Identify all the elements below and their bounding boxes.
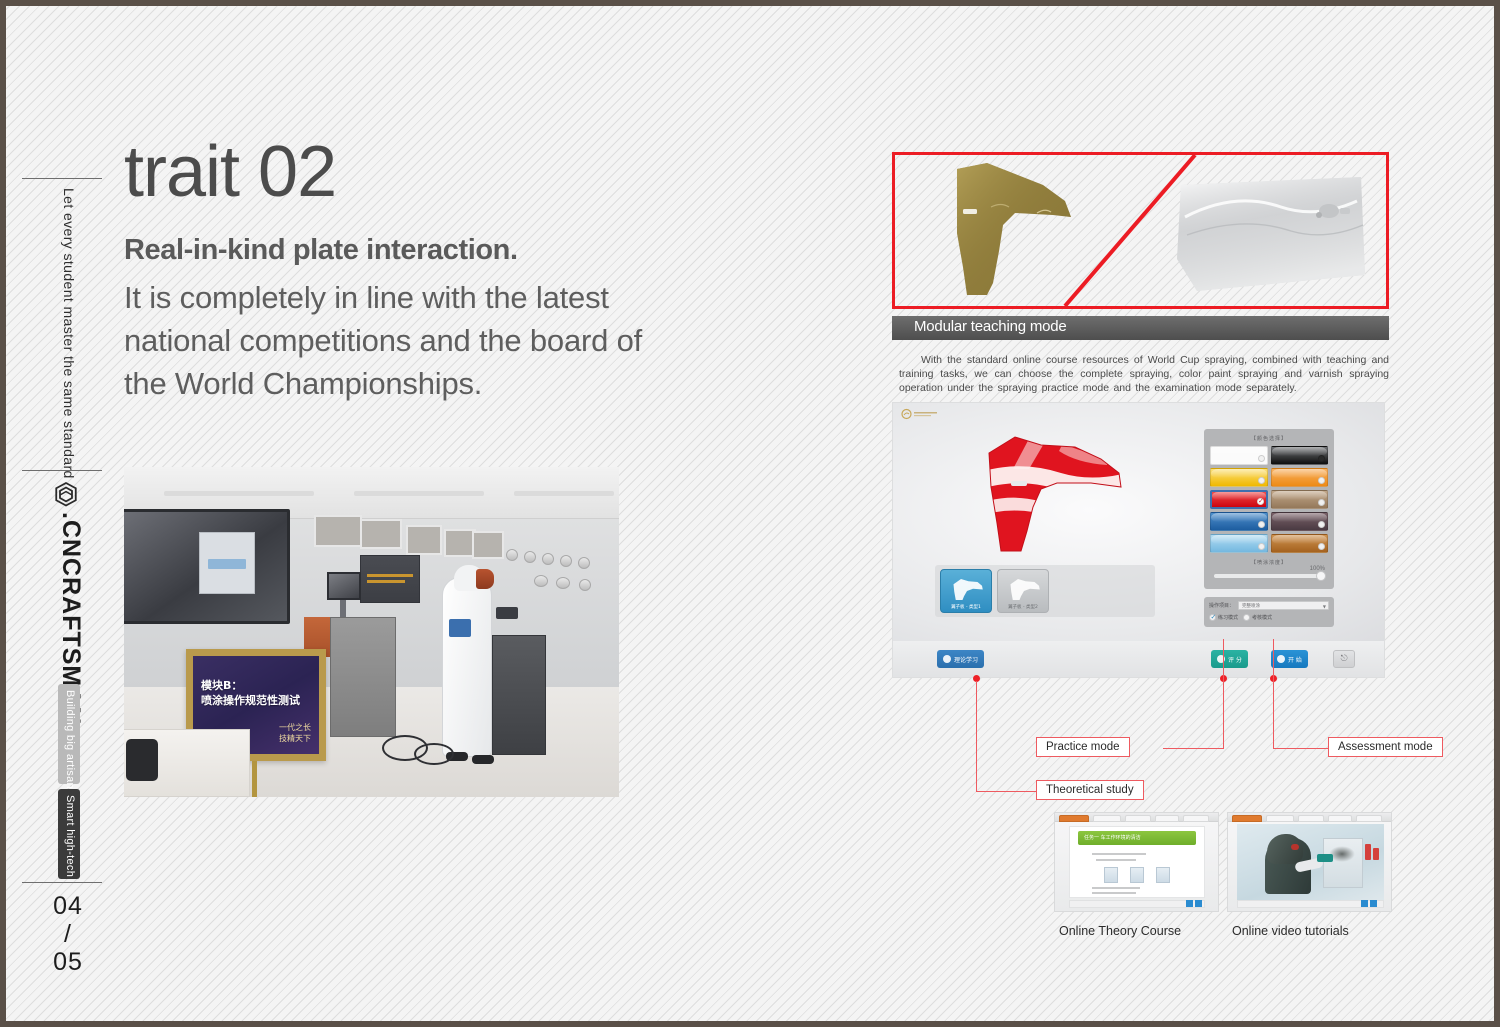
mode-radio-row: 练习模式 考核模式 [1209,614,1329,621]
wall-display-screen [124,509,290,624]
online-video-tutorials-thumb[interactable] [1227,812,1392,912]
brochure-page: Let every student master the same standa… [6,6,1494,1021]
wall-picture [472,531,504,559]
ceiling-light [164,491,314,496]
operation-select-label: 操作项目： [1209,602,1234,609]
slide-text-line [1096,859,1136,861]
swatch-plum[interactable] [1271,512,1329,531]
bag [126,739,158,781]
thumb-body [1228,822,1391,912]
radio-practice-mode[interactable]: 练习模式 [1209,614,1238,621]
player-button[interactable] [1195,900,1202,907]
callout-assessment-mode: Assessment mode [1328,737,1443,757]
section-paragraph: With the standard online course resource… [899,353,1389,395]
density-slider[interactable] [1214,574,1324,578]
radio-label: 练习模式 [1218,614,1238,621]
part-selection-tray: 翼子板 - 类型1 翼子板 - 类型2 [935,565,1155,617]
thumb-caption-video: Online video tutorials [1232,924,1349,938]
slide-text-line [1092,887,1140,889]
worker-coverall [442,577,492,757]
leader-line-theory-v [976,681,977,791]
video-frame [1237,824,1384,902]
app-bottom-toolbar: 理论学习 评 分 开 始 ⎋ [893,641,1384,678]
slide-title-bar: 任务一 车工作环境的清洁 [1078,831,1196,845]
operation-select-row: 操作项目： 完整喷涂 ▼ [1209,601,1329,610]
leader-line-practice-v [1223,639,1224,749]
swatch-radio[interactable] [1318,477,1325,484]
color-swatch-grid [1210,446,1328,553]
paint-bottle [1365,844,1371,860]
player-toolbar[interactable] [1069,900,1205,908]
player-button[interactable] [1186,900,1193,907]
tray-thumb-type2[interactable]: 翼子板 - 类型2 [997,569,1049,613]
wall-badge [534,575,548,587]
helmet-visor [1291,844,1299,850]
course-slide: 任务一 车工作环境的清洁 [1069,826,1205,898]
player-button[interactable] [1370,900,1377,907]
thumb-body: 任务一 车工作环境的清洁 [1055,822,1218,912]
spray-training-software-screenshot: 翼子板 - 类型1 翼子板 - 类型2 【颜色选择】 [892,402,1385,678]
desk-monitor [327,572,361,600]
swatch-radio[interactable] [1318,455,1325,462]
pill-smart-high-tech: Smart high-tech [58,789,80,879]
spray-training-room-photo: 模块B：喷涂操作规范性测试 一代之长技精天下 [124,467,619,797]
leader-line-practice-h [1163,748,1224,749]
start-button[interactable]: 开 始 [1271,650,1308,668]
chevron-down-icon: ▼ [1323,604,1326,609]
left-spine: Let every student master the same standa… [6,6,118,1021]
grade-label: 评 分 [1228,655,1242,664]
wall-badge [506,549,518,561]
wall-picture [314,515,362,547]
radio-assessment-mode[interactable]: 考核模式 [1243,614,1272,621]
tagline-vertical: Let every student master the same standa… [61,188,77,479]
spine-divider-bottom [22,882,102,883]
app-brand-logo-icon [901,408,961,420]
operation-select-value: 完整喷涂 [1242,604,1260,609]
wall-badge [524,551,536,563]
worker-back-logo [449,619,471,637]
thumb-caption-theory: Online Theory Course [1059,924,1181,938]
theory-study-button[interactable]: 理论学习 [937,650,984,668]
power-icon: ⎋ [1340,654,1347,664]
thumb-tabbar [1228,813,1391,822]
power-button[interactable]: ⎋ [1333,650,1355,668]
swatch-brown[interactable] [1271,534,1329,553]
air-hose [414,743,454,765]
fender-thumb-icon [949,575,985,601]
color-panel-title: 【颜色选择】 [1210,435,1328,442]
wall-badge [578,557,590,569]
thumb-tab[interactable] [1266,815,1294,822]
spray-gun [1317,854,1333,862]
tray-thumb-label: 翼子板 - 类型1 [941,604,991,610]
swatch-yellow[interactable] [1210,468,1268,487]
thumb-tab[interactable] [1298,815,1324,822]
ceiling-light [354,491,484,496]
mode-selection-panel: 操作项目： 完整喷涂 ▼ 练习模式 考核模式 [1204,597,1334,627]
swatch-radio[interactable] [1318,521,1325,528]
section-caption-bar: Modular teaching mode [892,316,1389,340]
grade-button[interactable]: 评 分 [1211,650,1248,668]
swatch-tan[interactable] [1271,490,1329,509]
start-label: 开 始 [1288,655,1302,664]
parts-comparison-panel [892,152,1389,309]
board-bar [367,574,413,577]
swatch-light-blue[interactable] [1210,534,1268,553]
paint-bottle [1373,848,1379,860]
leader-line-theory-h [976,791,1036,792]
swatch-radio-selected[interactable] [1257,498,1264,505]
leader-line-assess-v [1273,639,1274,749]
theory-study-label: 理论学习 [954,655,978,664]
callout-theoretical-study: Theoretical study [1036,780,1144,800]
thumb-tab[interactable] [1328,815,1352,822]
hero-graphics [895,155,1386,306]
equipment-cabinet [330,617,396,737]
swatch-radio[interactable] [1258,543,1265,550]
slide-illustration [1156,867,1170,883]
car-door-panel [1177,177,1365,291]
swatch-white[interactable] [1210,446,1268,465]
worker-shoe [472,755,494,764]
spray-gun [496,607,518,619]
slide-text-line [1092,853,1146,855]
check-icon [1277,655,1285,663]
wall-badge [579,579,591,591]
easel-title: 模块B：喷涂操作规范性测试 [201,678,300,708]
color-selection-panel: 【颜色选择】 [1204,429,1334,589]
density-slider-label: 【喷涂浓度】 [1210,559,1328,566]
car-fender-panel [957,163,1071,295]
thumb-tab[interactable] [1125,815,1151,822]
board-bar [367,580,405,583]
swatch-radio[interactable] [1258,521,1265,528]
easel-leg [252,761,257,797]
leader-line-assess-h [1273,748,1329,749]
wall-info-board [360,555,420,603]
operation-select[interactable]: 完整喷涂 ▼ [1238,601,1329,610]
thumb-tab[interactable] [1093,815,1121,822]
radio-box [1209,614,1216,621]
hero-inner [895,155,1386,306]
page-title: trait 02 [124,134,336,210]
spine-divider-top [22,178,102,179]
fender-thumb-icon [1006,575,1042,601]
thumb-tabbar [1055,813,1218,822]
online-theory-course-thumb[interactable]: 任务一 车工作环境的清洁 [1054,812,1219,912]
slide-illustration [1104,867,1118,883]
spine-divider-mid [22,470,102,471]
app-3d-canvas[interactable]: 翼子板 - 类型1 翼子板 - 类型2 【颜色选择】 [893,403,1384,641]
wall-picture [406,525,442,555]
swatch-black[interactable] [1271,446,1329,465]
red-painted-fender-3d-view [971,425,1131,555]
worker-face-mask [476,569,494,589]
swatch-orange[interactable] [1271,468,1329,487]
swatch-radio[interactable] [1318,499,1325,506]
wall-badge [560,555,572,567]
density-slider-value: 100% [1210,566,1328,572]
easel-subtitle: 一代之长技精天下 [279,722,311,744]
hex-spiral-logo-icon [51,480,81,510]
swatch-red[interactable] [1210,490,1268,509]
swatch-blue[interactable] [1210,512,1268,531]
page-number: 04/05 [46,892,90,976]
wall-picture [360,519,402,549]
thumb-tab[interactable] [1155,815,1179,822]
swatch-radio[interactable] [1258,477,1265,484]
radio-label: 考核模式 [1252,614,1272,621]
thumb-tab[interactable] [1356,815,1382,822]
callout-practice-mode: Practice mode [1036,737,1130,757]
ceiling-light [514,491,614,496]
wall-badge [556,577,570,589]
spray-booth-cabinet [492,635,546,755]
slide-illustration [1130,867,1144,883]
density-slider-knob[interactable] [1316,571,1326,581]
body-copy: It is completely in line with the latest… [124,276,654,405]
screen-dialog [199,532,255,594]
thumb-tab-active[interactable] [1059,815,1089,822]
pill-building-big-artisans: Building big artisans [58,684,80,784]
tray-thumb-type1[interactable]: 翼子板 - 类型1 [940,569,992,613]
screen-dialog-button [208,559,246,569]
player-button[interactable] [1361,900,1368,907]
thumb-tab-active[interactable] [1232,815,1262,822]
slide-text-line [1092,892,1136,894]
swatch-radio[interactable] [1318,543,1325,550]
subheading: Real-in-kind plate interaction. [124,234,518,267]
wall-badge [542,553,554,565]
thumb-tab[interactable] [1183,815,1209,822]
radio-box [1243,614,1250,621]
tray-thumb-label: 翼子板 - 类型2 [998,604,1048,610]
book-icon [943,655,951,663]
swatch-radio[interactable] [1258,455,1265,462]
